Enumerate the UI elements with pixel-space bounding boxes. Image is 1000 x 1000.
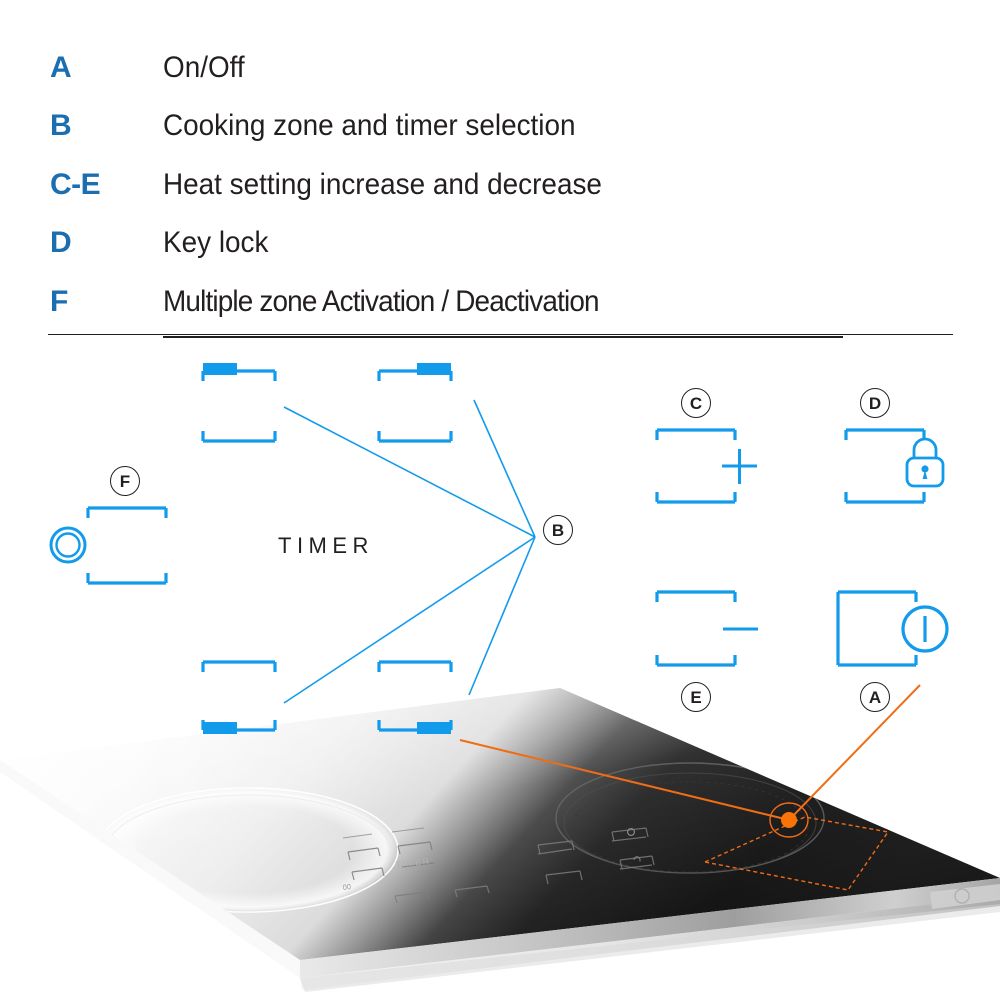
on-off-key <box>838 592 947 665</box>
timer-label: TIMER <box>278 533 374 559</box>
page-root: A On/Off B Cooking zone and timer select… <box>0 0 1000 1000</box>
heat-increase-key <box>657 430 757 502</box>
control-panel-schematic <box>0 0 1000 1000</box>
badge-f[interactable]: F <box>110 466 140 496</box>
timer-zone-top-left-key <box>203 363 275 441</box>
key-lock-key <box>846 430 943 502</box>
timer-zone-bottom-left-key <box>203 662 275 734</box>
badge-c[interactable]: C <box>681 388 711 418</box>
heat-decrease-key <box>657 592 758 665</box>
badge-b[interactable]: B <box>543 515 573 545</box>
badge-d[interactable]: D <box>860 388 890 418</box>
badge-e[interactable]: E <box>681 682 711 712</box>
badge-a[interactable]: A <box>860 682 890 712</box>
multiple-zone-key <box>51 508 166 583</box>
timer-zone-top-right-key <box>379 363 451 441</box>
timer-zone-bottom-right-key <box>379 662 451 734</box>
